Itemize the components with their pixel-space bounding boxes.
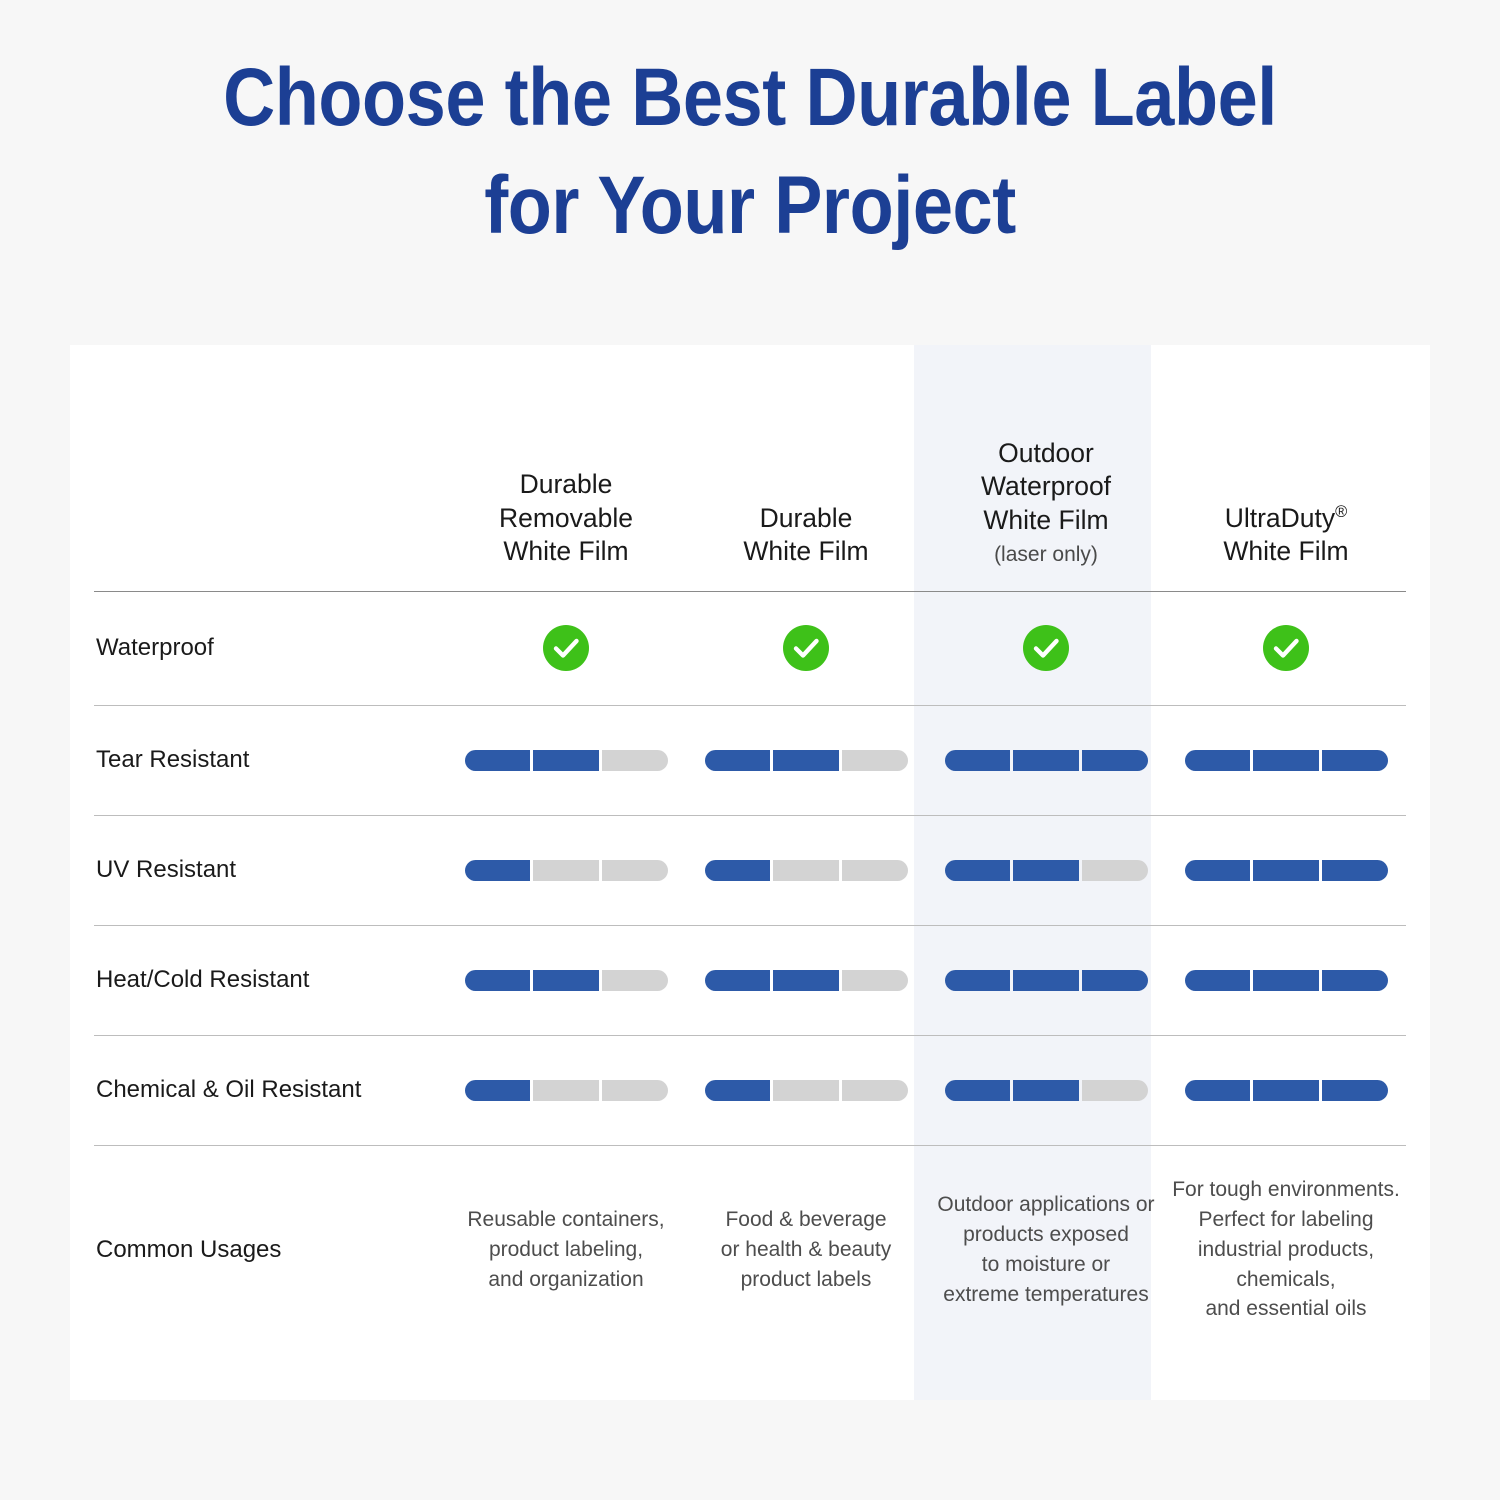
- cell-tear-1: [446, 705, 686, 815]
- table-row: Tear Resistant: [94, 705, 1406, 815]
- cell-heat-4: [1166, 925, 1406, 1035]
- rating-bar: [465, 860, 668, 881]
- cell-tear-4: [1166, 705, 1406, 815]
- usage-text: Outdoor applications or products exposed…: [932, 1190, 1160, 1309]
- rating-bar-segment: [1082, 860, 1148, 881]
- row-label-tear-resistant: Tear Resistant: [94, 705, 446, 815]
- rating-bar-segment: [1185, 860, 1251, 881]
- feature-column-header: [94, 345, 446, 591]
- cell-chem-3: [926, 1035, 1166, 1145]
- rating-bar-segment: [945, 970, 1011, 991]
- rating-bar-segment: [465, 1080, 531, 1101]
- table-row: Chemical & Oil Resistant: [94, 1035, 1406, 1145]
- product-name-3: Outdoor Waterproof White Film: [932, 437, 1160, 537]
- rating-bar-segment: [705, 750, 771, 771]
- rating-bar-segment: [1013, 1080, 1079, 1101]
- row-label-chemical-oil-resistant: Chemical & Oil Resistant: [94, 1035, 446, 1145]
- registered-trademark-icon: ®: [1335, 503, 1347, 521]
- rating-bar: [1185, 860, 1388, 881]
- check-circle-icon: [1263, 625, 1309, 671]
- usage-text: Food & beverage or health & beauty produ…: [692, 1205, 920, 1294]
- cell-waterproof-1: [446, 591, 686, 705]
- rating-bar-segment: [1253, 970, 1319, 991]
- rating-bar-segment: [1253, 860, 1319, 881]
- cell-tear-3: [926, 705, 1166, 815]
- rating-bar-segment: [773, 860, 839, 881]
- page-title-line-2: for Your Project: [90, 152, 1410, 260]
- cell-waterproof-2: [686, 591, 926, 705]
- product-name-1: Durable Removable White Film: [452, 468, 680, 568]
- rating-bar-segment: [533, 860, 599, 881]
- table-row: Waterproof: [94, 591, 1406, 705]
- rating-bar: [465, 970, 668, 991]
- rating-bar-segment: [945, 750, 1011, 771]
- cell-uv-1: [446, 815, 686, 925]
- rating-bar-segment: [773, 1080, 839, 1101]
- cell-usage-3: Outdoor applications or products exposed…: [926, 1145, 1166, 1354]
- product-column-header-4: UltraDuty®White Film: [1166, 345, 1406, 591]
- cell-uv-4: [1166, 815, 1406, 925]
- table-body: Waterproof: [94, 591, 1406, 1354]
- check-circle-icon: [783, 625, 829, 671]
- cell-uv-3: [926, 815, 1166, 925]
- rating-bar-segment: [842, 1080, 908, 1101]
- rating-bar-segment: [1082, 970, 1148, 991]
- rating-bar: [945, 970, 1148, 991]
- rating-bar: [1185, 970, 1388, 991]
- rating-bar: [705, 970, 908, 991]
- rating-bar-segment: [773, 970, 839, 991]
- rating-bar: [945, 750, 1148, 771]
- product-column-header-1: Durable Removable White Film: [446, 345, 686, 591]
- rating-bar-segment: [1013, 750, 1079, 771]
- table-row: UV Resistant: [94, 815, 1406, 925]
- usage-text: Reusable containers, product labeling, a…: [452, 1205, 680, 1294]
- row-label-uv-resistant: UV Resistant: [94, 815, 446, 925]
- rating-bar-segment: [1013, 970, 1079, 991]
- rating-bar-segment: [1185, 970, 1251, 991]
- check-circle-icon: [1023, 625, 1069, 671]
- rating-bar: [1185, 1080, 1388, 1101]
- rating-bar-segment: [945, 1080, 1011, 1101]
- row-label-heat-cold-resistant: Heat/Cold Resistant: [94, 925, 446, 1035]
- rating-bar-segment: [1322, 750, 1388, 771]
- rating-bar-segment: [1322, 970, 1388, 991]
- product-name-4: UltraDuty®White Film: [1172, 502, 1400, 569]
- rating-bar-segment: [1253, 750, 1319, 771]
- rating-bar-segment: [842, 860, 908, 881]
- product-note-3: (laser only): [932, 541, 1160, 568]
- rating-bar: [705, 1080, 908, 1101]
- rating-bar-segment: [1253, 1080, 1319, 1101]
- rating-bar-segment: [602, 970, 668, 991]
- cell-waterproof-4: [1166, 591, 1406, 705]
- comparison-table-card: Durable Removable White Film Durable Whi…: [70, 345, 1430, 1400]
- page-title-line-1: Choose the Best Durable Label: [90, 44, 1410, 152]
- rating-bar-segment: [705, 970, 771, 991]
- product-name-2: Durable White Film: [692, 502, 920, 569]
- rating-bar-segment: [842, 750, 908, 771]
- usage-text: For tough environments. Perfect for labe…: [1172, 1175, 1400, 1324]
- cell-tear-2: [686, 705, 926, 815]
- rating-bar-segment: [1322, 860, 1388, 881]
- cell-usage-1: Reusable containers, product labeling, a…: [446, 1145, 686, 1354]
- page-title: Choose the Best Durable Label for Your P…: [90, 44, 1410, 260]
- product-column-header-3: Outdoor Waterproof White Film (laser onl…: [926, 345, 1166, 591]
- comparison-table-wrapper: Durable Removable White Film Durable Whi…: [70, 345, 1430, 1400]
- rating-bar-segment: [945, 860, 1011, 881]
- table-header-row: Durable Removable White Film Durable Whi…: [94, 345, 1406, 591]
- rating-bar-segment: [705, 860, 771, 881]
- rating-bar-segment: [773, 750, 839, 771]
- rating-bar: [705, 750, 908, 771]
- rating-bar-segment: [1322, 1080, 1388, 1101]
- rating-bar-segment: [465, 860, 531, 881]
- rating-bar-segment: [533, 970, 599, 991]
- rating-bar-segment: [1185, 750, 1251, 771]
- row-label-waterproof: Waterproof: [94, 591, 446, 705]
- product-column-header-2: Durable White Film: [686, 345, 926, 591]
- rating-bar-segment: [465, 970, 531, 991]
- rating-bar: [945, 1080, 1148, 1101]
- table-row: Heat/Cold Resistant: [94, 925, 1406, 1035]
- cell-waterproof-3: [926, 591, 1166, 705]
- rating-bar-segment: [602, 750, 668, 771]
- check-circle-icon: [543, 625, 589, 671]
- cell-chem-1: [446, 1035, 686, 1145]
- cell-chem-4: [1166, 1035, 1406, 1145]
- rating-bar-segment: [465, 750, 531, 771]
- table-row: Common Usages Reusable containers, produ…: [94, 1145, 1406, 1354]
- rating-bar: [465, 750, 668, 771]
- rating-bar: [1185, 750, 1388, 771]
- rating-bar-segment: [533, 750, 599, 771]
- cell-uv-2: [686, 815, 926, 925]
- rating-bar-segment: [1082, 1080, 1148, 1101]
- cell-usage-2: Food & beverage or health & beauty produ…: [686, 1145, 926, 1354]
- rating-bar-segment: [1013, 860, 1079, 881]
- rating-bar-segment: [705, 1080, 771, 1101]
- cell-heat-1: [446, 925, 686, 1035]
- rating-bar: [705, 860, 908, 881]
- rating-bar: [465, 1080, 668, 1101]
- rating-bar-segment: [1082, 750, 1148, 771]
- rating-bar-segment: [842, 970, 908, 991]
- cell-chem-2: [686, 1035, 926, 1145]
- cell-usage-4: For tough environments. Perfect for labe…: [1166, 1145, 1406, 1354]
- rating-bar-segment: [533, 1080, 599, 1101]
- rating-bar: [945, 860, 1148, 881]
- cell-heat-2: [686, 925, 926, 1035]
- cell-heat-3: [926, 925, 1166, 1035]
- row-label-common-usages: Common Usages: [94, 1145, 446, 1354]
- comparison-table: Durable Removable White Film Durable Whi…: [94, 345, 1406, 1354]
- page-root: Choose the Best Durable Label for Your P…: [0, 0, 1500, 1500]
- rating-bar-segment: [1185, 1080, 1251, 1101]
- rating-bar-segment: [602, 860, 668, 881]
- rating-bar-segment: [602, 1080, 668, 1101]
